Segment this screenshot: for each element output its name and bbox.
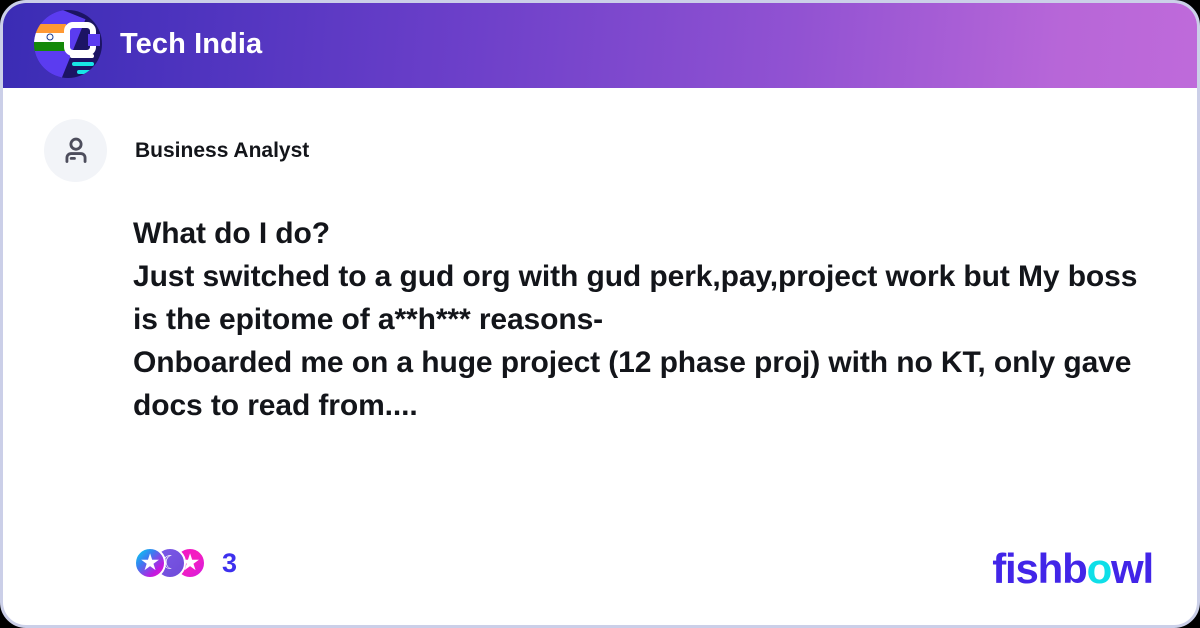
post-body-text: What do I do? Just switched to a gud org… — [133, 212, 1157, 427]
ashoka-chakra-icon — [47, 34, 54, 41]
wordmark-cyan-o: o — [1087, 541, 1111, 597]
fishbowl-wordmark[interactable]: fishbowl — [992, 541, 1153, 597]
wordmark-part-1: fishb — [992, 541, 1086, 597]
wordmark-part-2: wl — [1111, 541, 1153, 597]
reaction-count: 3 — [222, 550, 237, 577]
fishbowl-post-card: Tech India Business Analyst What do I do… — [0, 0, 1200, 628]
person-icon — [59, 134, 93, 168]
india-flag-icon — [34, 24, 66, 51]
post-author-row: Business Analyst — [44, 119, 309, 182]
star-glyph: ★ — [140, 551, 161, 574]
reaction-badge-stack[interactable]: ★ ☾ ★ — [134, 547, 206, 579]
flag-stripe-saffron — [34, 24, 66, 33]
flag-stripe-white — [34, 33, 66, 42]
bowl-header[interactable]: Tech India — [0, 0, 1200, 88]
post-author-title: Business Analyst — [135, 140, 309, 161]
post-footer: ★ ☾ ★ 3 fishbowl — [3, 541, 1197, 597]
reactions-group[interactable]: ★ ☾ ★ 3 — [134, 547, 237, 579]
logo-c-gap — [88, 34, 100, 46]
star-reaction-icon[interactable]: ★ — [134, 547, 166, 579]
tech-india-bowl-logo-icon — [34, 10, 102, 78]
avatar — [44, 119, 107, 182]
logo-cyan-line-1 — [72, 62, 94, 66]
logo-white-line — [70, 54, 94, 58]
flag-stripe-green — [34, 42, 66, 51]
bowl-title: Tech India — [120, 30, 262, 59]
logo-cyan-line-2 — [77, 70, 94, 74]
